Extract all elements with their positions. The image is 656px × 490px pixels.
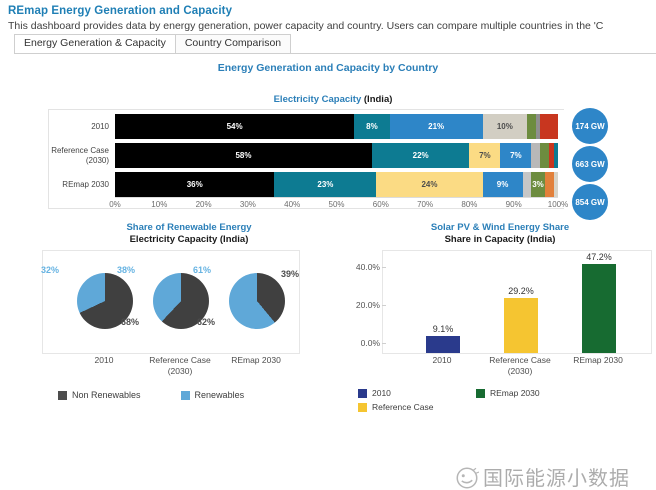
stacked-bar-segment[interactable] [527,114,536,139]
stacked-bar-segment[interactable]: 23% [274,172,376,197]
column-bar[interactable]: 29.2% [504,298,538,353]
x-axis-tick: 60% [373,200,389,209]
stacked-bar-segment[interactable]: 58% [115,143,372,168]
stacked-bar-segment[interactable] [531,143,540,168]
column-chart-subtitle: Share in Capacity (India) [344,234,656,246]
pie-category-label: Reference Case(2030) [137,355,223,377]
legend-swatch [58,391,67,400]
pie-label-renewables: 61% [193,265,211,275]
stacked-bar-segment[interactable]: 8% [354,114,389,139]
pie-category-label: 2010 [61,355,147,366]
x-axis-tick: 100% [548,200,568,209]
legend-item[interactable]: Renewables [181,390,245,400]
stacked-bar-segment[interactable]: 24% [376,172,482,197]
stacked-chart-subtitle: Electricity Capacity (India) [48,94,618,105]
legend-label: Renewables [195,390,245,400]
stacked-bar-track: 58%22%7%7% [115,143,558,168]
x-axis-tick: 90% [506,200,522,209]
stacked-bar-segment[interactable] [540,114,558,139]
legend-label: REmap 2030 [490,388,540,398]
stacked-bar-row: REmap 203036%23%24%9%3% [49,172,564,197]
stacked-bar-track: 36%23%24%9%3% [115,172,558,197]
watermark-text: 国际能源小数据 [483,467,630,489]
stacked-bar-segment[interactable] [554,143,558,168]
pie-chart: 61%39% [227,273,287,333]
total-capacity-bubble[interactable]: 854 GW [572,184,608,220]
pie-chart: 32%68% [75,273,135,333]
column-category-labels: 2010Reference Case(2030)REmap 2030 [382,354,652,380]
pie-chart-subtitle: Electricity Capacity (India) [42,234,336,246]
share-of-renewable-energy-chart: Share of Renewable Energy Electricity Ca… [0,222,336,450]
pie-category-label: REmap 2030 [213,355,299,366]
pie-disc[interactable] [229,273,285,329]
column-category-label: Reference Case(2030) [475,355,565,377]
tab-bar: Energy Generation & Capacity Country Com… [14,36,656,54]
stacked-bar-segment[interactable]: 21% [390,114,483,139]
column-category-label: 2010 [397,355,487,366]
x-axis-tick: 20% [196,200,212,209]
total-capacity-bubble[interactable]: 663 GW [572,146,608,182]
stacked-chart-country: (India) [364,94,393,105]
y-axis-tick: 20.0% [356,300,380,310]
dashboard-header: REmap Energy Generation and Capacity Thi… [0,0,656,33]
column-value-label: 47.2% [586,252,612,262]
page-title: REmap Energy Generation and Capacity [8,4,648,18]
x-axis-tick: 0% [109,200,121,209]
legend-item[interactable]: 2010 [358,388,391,398]
stacked-bar-segment[interactable] [523,172,532,197]
y-axis-tick: 0.0% [361,338,380,348]
stacked-bar-row: Reference Case (2030)58%22%7%7% [49,143,564,168]
pie-chart-title: Share of Renewable Energy [42,222,336,234]
stacked-plot-area: 201054%8%21%10%Reference Case (2030)58%2… [48,109,564,209]
stacked-bar-segment[interactable]: 7% [500,143,531,168]
stacked-bar-segment[interactable]: 3% [531,172,544,197]
pie-label-renewables: 38% [117,265,135,275]
stacked-bar-row: 201054%8%21%10% [49,114,564,139]
stacked-bar-segment[interactable]: 54% [115,114,354,139]
pie-plot-area: 32%68%38%62%61%39% [42,250,300,354]
stacked-bar-track: 54%8%21%10% [115,114,558,139]
pie-chart: 38%62% [151,273,211,333]
total-capacity-bubble[interactable]: 174 GW [572,108,608,144]
pie-legend: Non RenewablesRenewables [42,390,336,400]
pie-label-non-renewables: 68% [121,317,139,327]
legend-swatch [358,389,367,398]
pie-label-non-renewables: 62% [197,317,215,327]
legend-item[interactable]: REmap 2030 [476,388,540,398]
column-value-label: 29.2% [508,286,534,296]
stacked-bar-row-label: REmap 2030 [49,180,115,190]
stacked-bar-segment[interactable]: 7% [469,143,500,168]
column-category-label: REmap 2030 [553,355,643,366]
column-bar-rect [426,336,460,353]
bottom-charts-row: Share of Renewable Energy Electricity Ca… [0,222,656,450]
legend-item[interactable]: Reference Case [358,402,433,412]
pie-label-renewables: 32% [41,265,59,275]
column-bar[interactable]: 9.1% [426,336,460,353]
stacked-bar-segment[interactable]: 36% [115,172,274,197]
legend-swatch [181,391,190,400]
x-axis-tick: 50% [328,200,344,209]
stacked-bar-row-label: Reference Case (2030) [49,146,115,165]
legend-label: Non Renewables [72,390,141,400]
electricity-capacity-stacked-chart: Electricity Capacity (India) 201054%8%21… [48,94,618,214]
column-legend: 2010Reference CaseREmap 2030 [358,388,648,420]
panel-title: Energy Generation and Capacity by Countr… [0,62,656,74]
column-plot-area: 0.0%20.0%40.0%9.1%29.2%47.2% [382,250,652,354]
stacked-bar-segment[interactable] [545,172,554,197]
stacked-bar-segment[interactable] [554,172,558,197]
pie-label-non-renewables: 39% [281,269,299,279]
legend-label: Reference Case [372,402,433,412]
x-axis-tick: 30% [240,200,256,209]
stacked-x-axis: 0%10%20%30%40%50%60%70%80%90%100% [115,197,558,213]
tab-country-comparison[interactable]: Country Comparison [175,34,291,53]
stacked-bar-segment[interactable]: 9% [483,172,523,197]
y-axis-tick: 40.0% [356,262,380,272]
watermark: 国际能源小数据 [455,466,630,490]
legend-swatch [476,389,485,398]
legend-swatch [358,403,367,412]
column-value-label: 9.1% [433,324,454,334]
column-chart-title: Solar PV & Wind Energy Share [344,222,656,234]
column-bar-rect [582,264,616,353]
x-axis-tick: 80% [461,200,477,209]
stacked-bar-segment[interactable]: 10% [483,114,527,139]
dashboard-description: This dashboard provides data by energy g… [8,19,648,33]
x-axis-tick: 70% [417,200,433,209]
x-axis-tick: 40% [284,200,300,209]
x-axis-tick: 10% [151,200,167,209]
column-bar[interactable]: 47.2% [582,264,616,353]
watermark-logo-icon [455,466,479,490]
pie-category-labels: 2010Reference Case(2030)REmap 2030 [42,354,300,380]
tab-energy-generation-capacity[interactable]: Energy Generation & Capacity [14,34,176,53]
stacked-bar-segment[interactable] [540,143,549,168]
solar-wind-share-chart: Solar PV & Wind Energy Share Share in Ca… [336,222,656,450]
stacked-bar-segment[interactable]: 22% [372,143,469,168]
stacked-chart-title-text: Electricity Capacity [274,94,362,105]
column-bar-rect [504,298,538,353]
legend-item[interactable]: Non Renewables [58,390,141,400]
main-panel: Energy Generation and Capacity by Countr… [0,62,656,450]
stacked-bar-row-label: 2010 [49,122,115,132]
total-capacity-bubbles: 174 GW663 GW854 GW [572,108,618,222]
legend-label: 2010 [372,388,391,398]
